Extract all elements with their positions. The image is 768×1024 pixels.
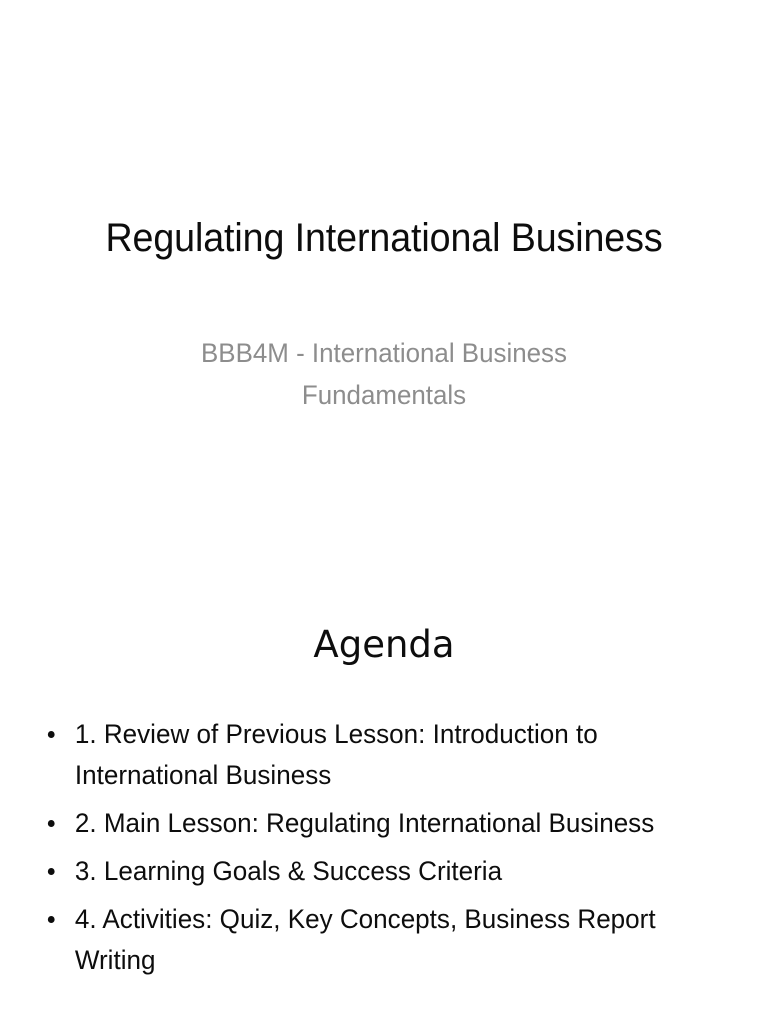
list-item-label: 3. Learning Goals & Success Criteria	[75, 856, 502, 886]
page-subtitle: BBB4M - International Business Fundament…	[144, 332, 624, 416]
agenda-section-header: Agenda	[0, 622, 768, 668]
bullet-dot-icon	[48, 916, 55, 923]
title-block: Regulating International Business	[0, 214, 768, 262]
subtitle-block: BBB4M - International Business Fundament…	[134, 332, 634, 416]
slide-page: Regulating International Business BBB4M …	[0, 0, 768, 1024]
page-title: Regulating International Business	[23, 214, 745, 262]
list-item-label: 2. Main Lesson: Regulating International…	[75, 808, 654, 838]
bullet-dot-icon	[48, 868, 55, 875]
list-item: 3. Learning Goals & Success Criteria	[44, 851, 710, 892]
list-item: 1. Review of Previous Lesson: Introducti…	[44, 714, 710, 796]
list-item: 4. Activities: Quiz, Key Concepts, Busin…	[44, 899, 710, 981]
list-item-label: 4. Activities: Quiz, Key Concepts, Busin…	[75, 904, 656, 975]
bullet-dot-icon	[48, 731, 55, 738]
list-item-label: 1. Review of Previous Lesson: Introducti…	[75, 719, 598, 790]
list-item: 2. Main Lesson: Regulating International…	[44, 803, 710, 844]
agenda-heading: Agenda	[0, 622, 768, 668]
agenda-list: 1. Review of Previous Lesson: Introducti…	[44, 714, 734, 981]
bullet-dot-icon	[48, 820, 55, 827]
